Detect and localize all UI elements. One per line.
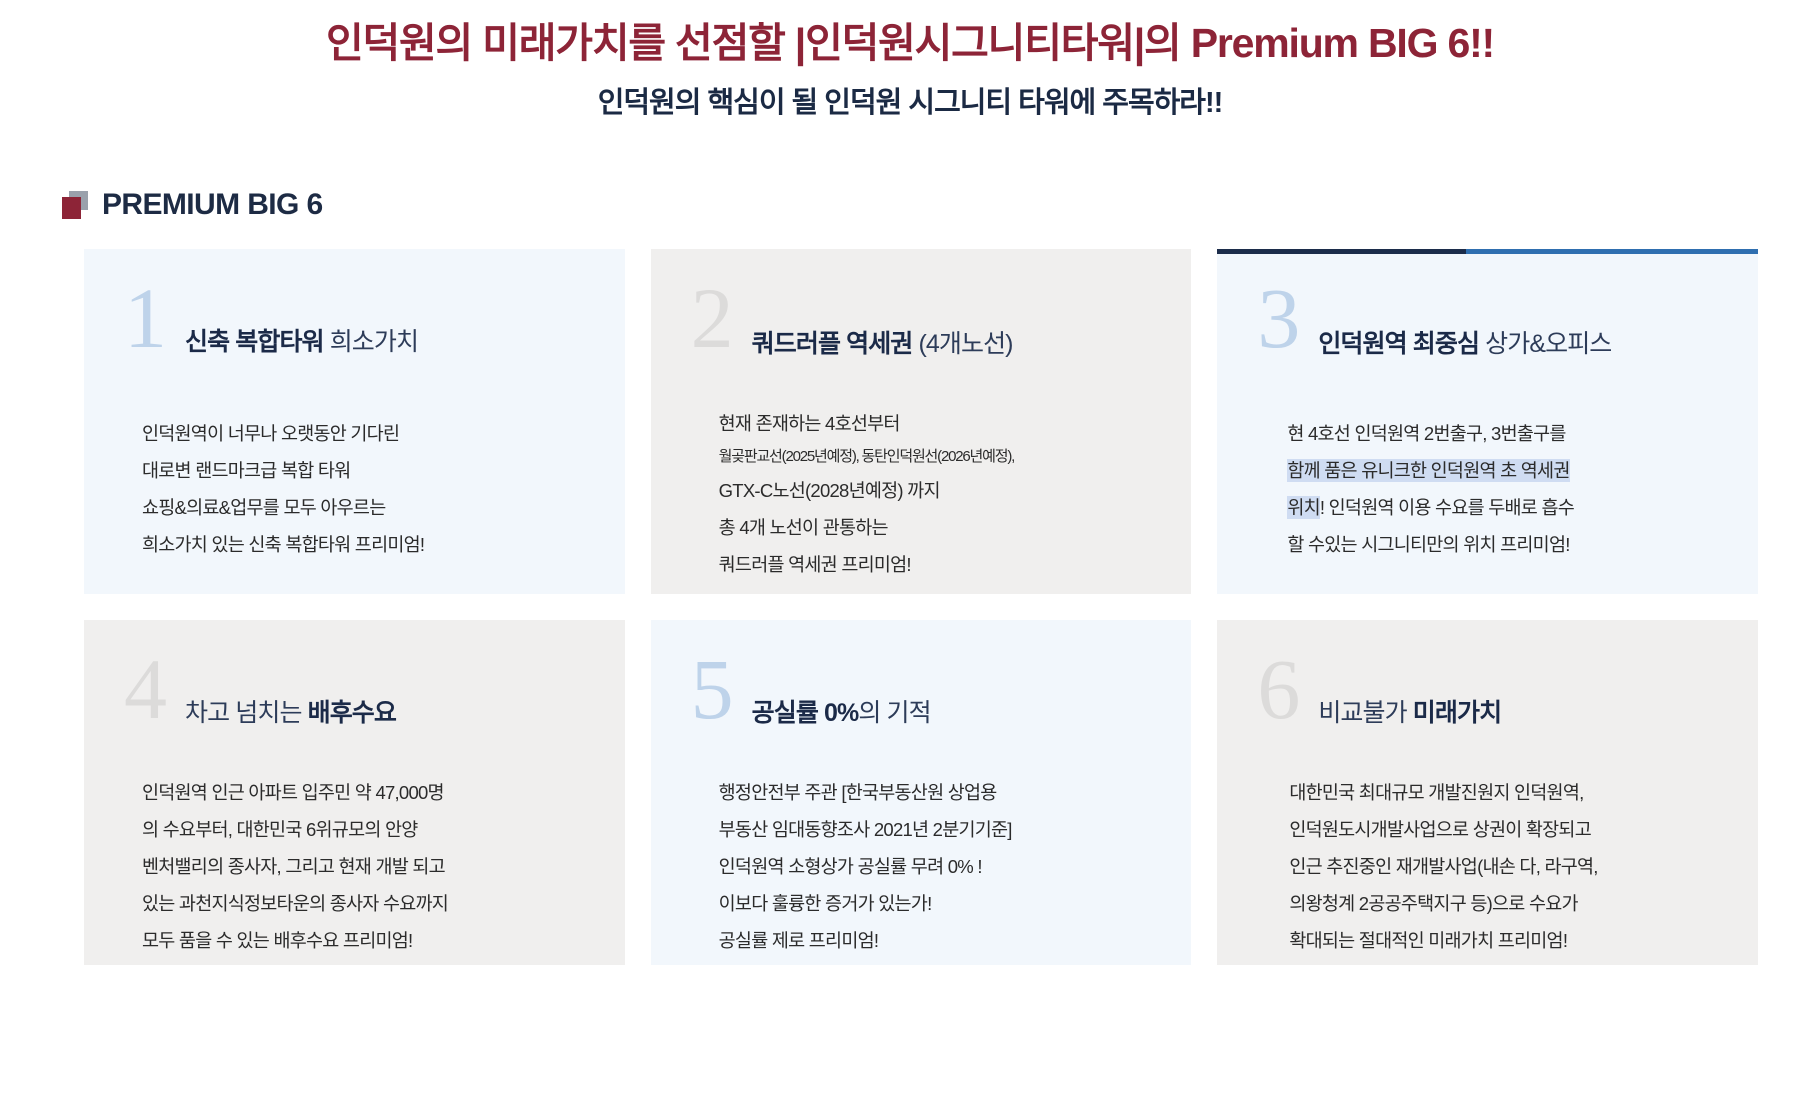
- page-title: 인덕원의 미래가치를 선점할 |인덕원시그니티타워|의 Premium BIG …: [0, 18, 1820, 69]
- card-body-line: 의 수요부터, 대한민국 6위규모의 안양: [142, 811, 585, 848]
- card-title-emphasis: 미래가치: [1413, 699, 1501, 727]
- card-body-line: 위치! 인덕원역 이용 수요를 두배로 흡수: [1287, 489, 1718, 526]
- card-header: 4차고 넘치는 배후수요: [124, 656, 585, 752]
- card-body: 현재 존재하는 4호선부터월곶판교선(2025년예정), 동탄인덕원선(2026…: [691, 405, 1152, 583]
- card-body-line: 쿼드러플 역세권 프리미엄!: [719, 546, 1152, 583]
- card-body: 인덕원역 인근 아파트 입주민 약 47,000명의 수요부터, 대한민국 6위…: [124, 774, 585, 959]
- card-body: 대한민국 최대규모 개발진원지 인덕원역,인덕원도시개발사업으로 상권이 확장되…: [1257, 774, 1718, 959]
- card-header: 1신축 복합타워 희소가치: [124, 285, 585, 397]
- premium-card-grid: 1신축 복합타워 희소가치인덕원역이 너무나 오랫동안 기다린대로변 랜드마크급…: [0, 249, 1820, 965]
- card-title: 쿼드러플 역세권 (4개노선): [752, 285, 1013, 360]
- card-number: 4: [124, 650, 167, 729]
- premium-card-2: 2쿼드러플 역세권 (4개노선)현재 존재하는 4호선부터월곶판교선(2025년…: [651, 249, 1192, 594]
- card-number: 6: [1257, 650, 1300, 729]
- card-number: 2: [691, 279, 734, 358]
- card-body-line: 월곶판교선(2025년예정), 동탄인덕원선(2026년예정),: [719, 442, 1152, 472]
- card-title: 공실률 0%의 기적: [752, 656, 931, 729]
- card-title-rest: 차고 넘치는: [185, 699, 308, 727]
- premium-card-3: 3인덕원역 최중심 상가&오피스현 4호선 인덕원역 2번출구, 3번출구를함께…: [1217, 249, 1758, 594]
- promo-page: 인덕원의 미래가치를 선점할 |인덕원시그니티타워|의 Premium BIG …: [0, 0, 1820, 1106]
- premium-card-1: 1신축 복합타워 희소가치인덕원역이 너무나 오랫동안 기다린대로변 랜드마크급…: [84, 249, 625, 594]
- highlighted-text: 위치: [1287, 496, 1320, 519]
- card-title-emphasis: 신축 복합타워: [185, 328, 324, 356]
- card-body-line: 인덕원역 소형상가 공실률 무려 0% !: [719, 848, 1152, 885]
- card-number: 5: [691, 650, 734, 729]
- card-header: 5공실률 0%의 기적: [691, 656, 1152, 752]
- card-body-line: 인덕원역이 너무나 오랫동안 기다린: [142, 415, 585, 452]
- card-body-line: 모두 품을 수 있는 배후수요 프리미엄!: [142, 922, 585, 959]
- card-title-rest: 의 기적: [858, 699, 930, 727]
- card-number: 1: [124, 279, 167, 358]
- card-body: 인덕원역이 너무나 오랫동안 기다린대로변 랜드마크급 복합 타워쇼핑&의료&업…: [124, 415, 585, 563]
- card-title-emphasis: 배후수요: [308, 699, 396, 727]
- card-body-line: 총 4개 노선이 관통하는: [719, 509, 1152, 546]
- premium-card-6: 6비교불가 미래가치대한민국 최대규모 개발진원지 인덕원역,인덕원도시개발사업…: [1217, 620, 1758, 965]
- card-body-line: 이보다 훌륭한 증거가 있는가!: [719, 885, 1152, 922]
- card-body-line: 벤처밸리의 종사자, 그리고 현재 개발 되고: [142, 848, 585, 885]
- card-title-rest: 상가&오피스: [1479, 330, 1611, 358]
- card-body-line: 함께 품은 유니크한 인덕원역 초 역세권: [1287, 452, 1718, 489]
- card-title: 비교불가 미래가치: [1318, 656, 1501, 729]
- square-marker-icon: [62, 191, 88, 219]
- card-header: 3인덕원역 최중심 상가&오피스: [1257, 285, 1718, 385]
- card-title: 신축 복합타워 희소가치: [185, 285, 418, 358]
- section-heading: PREMIUM BIG 6: [62, 185, 1820, 225]
- card-body-line: 공실률 제로 프리미엄!: [719, 922, 1152, 959]
- card-body-line: 행정안전부 주관 [한국부동산원 상업용: [719, 774, 1152, 811]
- card-body-line: 인덕원역 인근 아파트 입주민 약 47,000명: [142, 774, 585, 811]
- card-body-line: 현 4호선 인덕원역 2번출구, 3번출구를: [1287, 415, 1718, 452]
- card-body-line: 부동산 임대동향조사 2021년 2분기기준]: [719, 811, 1152, 848]
- card-body: 행정안전부 주관 [한국부동산원 상업용부동산 임대동향조사 2021년 2분기…: [691, 774, 1152, 959]
- card-title-rest: 희소가치: [324, 328, 418, 356]
- page-header: 인덕원의 미래가치를 선점할 |인덕원시그니티타워|의 Premium BIG …: [0, 0, 1820, 123]
- card-title-emphasis: 공실률 0%: [752, 699, 859, 727]
- highlighted-text: 함께 품은 유니크한 인덕원역 초 역세권: [1287, 459, 1569, 482]
- card-title: 인덕원역 최중심 상가&오피스: [1318, 285, 1611, 360]
- card-header: 6비교불가 미래가치: [1257, 656, 1718, 752]
- page-subtitle: 인덕원의 핵심이 될 인덕원 시그니티 타워에 주목하라!!: [0, 85, 1820, 123]
- section-label: PREMIUM BIG 6: [102, 188, 323, 222]
- card-title-rest: 비교불가: [1318, 699, 1412, 727]
- card-body-line: 희소가치 있는 신축 복합타워 프리미엄!: [142, 526, 585, 563]
- card-title-emphasis: 쿼드러플 역세권: [752, 330, 913, 358]
- card-body-line: 대한민국 최대규모 개발진원지 인덕원역,: [1289, 774, 1718, 811]
- card-title-emphasis: 인덕원역 최중심: [1318, 330, 1479, 358]
- card-body-line: 의왕청계 2공공주택지구 등)으로 수요가: [1289, 885, 1718, 922]
- card-title: 차고 넘치는 배후수요: [185, 656, 396, 729]
- premium-card-5: 5공실률 0%의 기적행정안전부 주관 [한국부동산원 상업용부동산 임대동향조…: [651, 620, 1192, 965]
- card-body-line: 할 수있는 시그니티만의 위치 프리미엄!: [1287, 526, 1718, 563]
- card-body-line: 있는 과천지식정보타운의 종사자 수요까지: [142, 885, 585, 922]
- card-body-line: 인덕원도시개발사업으로 상권이 확장되고: [1289, 811, 1718, 848]
- card-body-line: GTX-C노선(2028년예정) 까지: [719, 472, 1152, 509]
- card-header: 2쿼드러플 역세권 (4개노선): [691, 285, 1152, 397]
- card-body: 현 4호선 인덕원역 2번출구, 3번출구를함께 품은 유니크한 인덕원역 초 …: [1257, 415, 1718, 563]
- card-body-line: 확대되는 절대적인 미래가치 프리미엄!: [1289, 922, 1718, 959]
- card-body-line: 인근 추진중인 재개발사업(내손 다, 라구역,: [1289, 848, 1718, 885]
- premium-card-4: 4차고 넘치는 배후수요인덕원역 인근 아파트 입주민 약 47,000명의 수…: [84, 620, 625, 965]
- card-title-rest: (4개노선): [912, 330, 1012, 358]
- card-body-line: 현재 존재하는 4호선부터: [719, 405, 1152, 442]
- card-body-line: 쇼핑&의료&업무를 모두 아우르는: [142, 489, 585, 526]
- card-number: 3: [1257, 279, 1300, 358]
- card-body-line: 대로변 랜드마크급 복합 타워: [142, 452, 585, 489]
